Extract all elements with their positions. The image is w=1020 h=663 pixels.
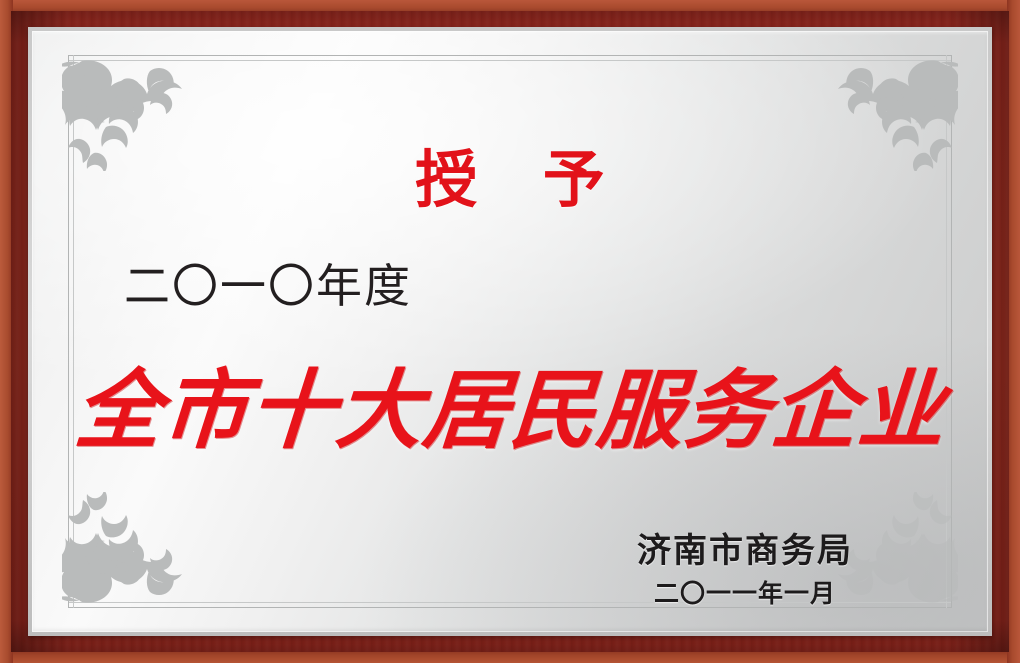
award-year: 二〇一〇年度 [124,263,412,309]
issuer-block: 济南市商务局 二〇一一年一月 [610,531,880,609]
plaque-content: 授 予 二〇一〇年度 全市十大居民服务企业 济南市商务局 二〇一一年一月 [32,31,988,632]
certificate-plate: 授 予 二〇一〇年度 全市十大居民服务企业 济南市商务局 二〇一一年一月 [32,31,988,632]
issuer-date: 二〇一一年一月 [610,579,880,609]
page-title: 全市十大居民服务企业 [32,365,988,458]
award-verb: 授 予 [32,149,988,211]
award-plaque: 授 予 二〇一〇年度 全市十大居民服务企业 济南市商务局 二〇一一年一月 [0,0,1020,663]
issuer-name: 济南市商务局 [610,531,880,571]
